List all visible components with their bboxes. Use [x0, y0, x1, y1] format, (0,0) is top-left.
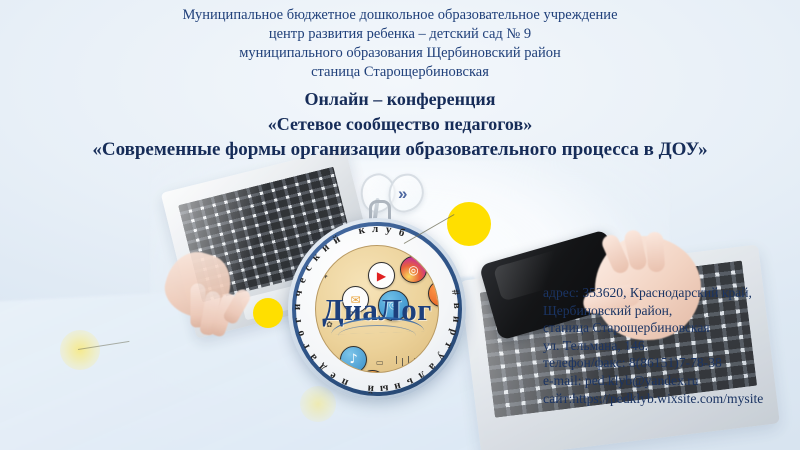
ring-text-char: т: [442, 340, 455, 350]
conference-poster: » #виртуальный педагогический клуб ✦ ✦ ✻…: [0, 0, 800, 450]
contact-line: адрес: 353620, Краснодарский край,: [543, 284, 763, 302]
eyeglasses-lens-right: [385, 171, 427, 215]
mini-doodle: ▭: [376, 358, 384, 367]
yellow-dot-small: [253, 298, 283, 328]
instagram-icon: ◎: [400, 256, 427, 283]
contact-line-website[interactable]: сайт:https://pedklyb.wixsite.com/mysite: [543, 390, 763, 408]
ring-text-char: е: [328, 369, 339, 382]
title-line-2: «Сетевое сообщество педагогов»: [0, 112, 800, 137]
ring-text-char: н: [393, 380, 402, 393]
contact-line: телефон/факс: 8(86151)7-78-38: [543, 354, 763, 372]
ring-text-char: #: [449, 288, 462, 296]
organization-line: муниципального образования Щербиновский …: [0, 44, 800, 63]
organization-line: Муниципальное бюджетное дошкольное образ…: [0, 6, 800, 25]
typing-hand-finger: [190, 283, 205, 327]
ring-text-char: и: [319, 241, 332, 254]
ring-text-char: л: [372, 223, 378, 235]
ring-text-char: ч: [292, 289, 305, 297]
youtube-icon: ▶: [368, 262, 395, 289]
ring-text-char: г: [300, 341, 313, 351]
title-line-1: Онлайн – конференция: [0, 87, 800, 112]
ring-text-char: о: [294, 329, 307, 338]
contact-line: ул. Тельмана, 146.: [543, 337, 763, 355]
yellow-dot-large: [447, 202, 491, 246]
typing-hand: [156, 222, 265, 338]
ring-text-char: б: [397, 226, 406, 239]
emblem-disc: ✦ ✦ ✻ ✿ ▭ ✎ ▶ ◎ ▤ ✉ ⌾ ▣: [315, 245, 439, 373]
dialog-emblem: #виртуальный педагогический клуб ✦ ✦ ✻ ✿…: [288, 218, 466, 400]
leader-line: [78, 341, 130, 350]
ring-text-char: г: [292, 317, 305, 324]
ring-text-char: ь: [405, 375, 415, 388]
phone-hand-finger: [623, 229, 648, 272]
ring-text-char: й: [367, 383, 374, 395]
ring-text-char: п: [339, 375, 350, 389]
mini-doodle: ✎: [420, 364, 427, 373]
contact-line-email[interactable]: e-mail: ped.klyb@yandex.ru: [543, 372, 763, 390]
ring-text-char: а: [307, 352, 320, 364]
ring-text-char: в: [451, 303, 463, 309]
instagram-glyph: ◎: [408, 263, 418, 277]
mini-doodle: ✦: [322, 272, 329, 281]
organization-heading: Муниципальное бюджетное дошкольное образ…: [0, 6, 800, 82]
yellow-dot-faded-left: [60, 330, 100, 370]
microphone-icon: ♪: [340, 346, 367, 373]
typing-hand-finger: [222, 287, 253, 326]
ring-text-char: д: [316, 361, 328, 374]
ring-text-char: ы: [379, 382, 389, 395]
ring-text-char: к: [357, 224, 366, 237]
typing-hand-finger: [209, 292, 238, 338]
phone-hand-finger: [646, 231, 666, 272]
ring-text-char: и: [291, 304, 303, 311]
organization-line: центр развития ребенка – детский сад № 9: [0, 25, 800, 44]
ring-text-char: й: [331, 233, 343, 247]
microphone-glyph: ♪: [349, 352, 357, 367]
contact-line: Щербиновский район,: [543, 302, 763, 320]
ring-text-char: и: [450, 315, 463, 323]
typing-hand-palm: [159, 245, 238, 324]
ring-text-char: р: [447, 328, 460, 337]
ring-text-char: у: [385, 224, 392, 237]
applause-spark: [394, 356, 418, 368]
ring-text-char: е: [296, 276, 309, 285]
ring-text-char: [355, 380, 361, 392]
ring-text-char: к: [309, 251, 322, 264]
phone-hand-finger: [600, 232, 632, 275]
ring-text-char: у: [435, 351, 448, 363]
chevron-right-icon: »: [398, 184, 405, 204]
contact-line: станица Старощербиновская: [543, 319, 763, 337]
contact-info: адрес: 353620, Краснодарский край, Щерби…: [543, 284, 763, 407]
title-line-3: «Современные формы организации образоват…: [0, 137, 800, 162]
ring-text-char: [345, 228, 352, 240]
page-title: Онлайн – конференция «Сетевое сообщество…: [0, 87, 800, 162]
youtube-glyph: ▶: [377, 269, 386, 283]
organization-line: станица Старощербиновская: [0, 63, 800, 82]
ring-text-char: с: [302, 263, 315, 273]
typing-hand-finger: [199, 290, 221, 336]
